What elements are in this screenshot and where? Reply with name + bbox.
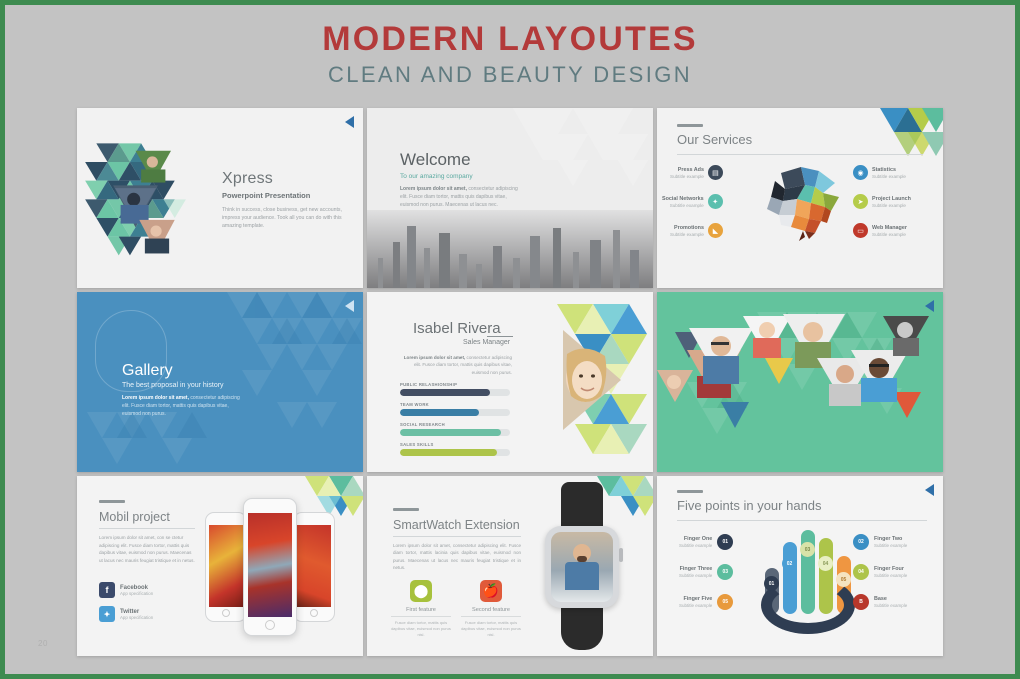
smartwatch-mockup: [539, 482, 625, 650]
service-subtitle: Subtitle example: [662, 203, 704, 208]
play-back-triangle-icon[interactable]: [345, 300, 354, 312]
page-number: 20: [38, 639, 48, 648]
slide-title: Five points in your hands: [677, 498, 927, 513]
social-item-facebook[interactable]: f Facebook App specification: [99, 582, 153, 598]
feature-name: Second feature: [461, 607, 521, 617]
slide-body: Lorem ipsum dolor sit amet, consectetur …: [400, 186, 525, 209]
point-badge: 05: [717, 594, 733, 610]
title-rule: [99, 500, 125, 503]
slide-gallery[interactable]: Gallery The best proposal in your histor…: [77, 292, 363, 472]
finger-badge-01: 01: [764, 576, 779, 591]
slide-title: Xpress: [222, 170, 342, 188]
skill-fill: [400, 449, 497, 456]
skill-label: SALES SKILLS: [400, 442, 510, 447]
point-name: Finger Four: [874, 566, 907, 572]
newspaper-icon[interactable]: ▤: [708, 165, 723, 180]
play-back-triangle-icon[interactable]: [345, 116, 354, 128]
point-subtitle: Subtitle example: [679, 573, 712, 578]
service-item-social-networks[interactable]: Social Networks Subtitle example ✦: [662, 194, 723, 209]
point-badge: 01: [717, 534, 733, 550]
slide-xpress-text: Xpress Powerpoint Presentation Think in …: [222, 170, 342, 230]
slide-mobil-project[interactable]: Mobil project Lorem ipsum dolor sit amet…: [77, 476, 363, 656]
slide-isabel-rivera[interactable]: Isabel Rivera Sales Manager Lorem ipsum …: [367, 292, 653, 472]
phone-mockup-center: [243, 498, 297, 636]
page-subtitle: CLEAN AND BEAUTY DESIGN: [5, 62, 1015, 88]
point-subtitle: Subtitle example: [874, 573, 907, 578]
finger-badge-03: 03: [800, 542, 815, 557]
point-badge: B: [853, 594, 869, 610]
feature-item-first[interactable]: ⬤ First feature Fusce diam tortor, matti…: [391, 580, 451, 638]
skill-row: PUBLIC RELASHIONSHIP: [400, 382, 510, 396]
header-divider: [393, 536, 521, 537]
service-name: Statistics: [872, 167, 906, 173]
skill-fill: [400, 409, 479, 416]
point-item-finger-five[interactable]: Finger Five Subtitle example 05: [679, 594, 733, 610]
skill-track: [400, 429, 510, 436]
skill-track: [400, 409, 510, 416]
gauge-icon[interactable]: ◉: [853, 165, 868, 180]
social-subtitle: App specification: [120, 615, 153, 620]
megaphone-icon[interactable]: ◣: [708, 223, 723, 238]
social-subtitle: App specification: [120, 591, 153, 596]
service-name: Social Networks: [662, 196, 704, 202]
slide-body-bold: Lorem ipsum dolor sit amet,: [404, 355, 466, 360]
feature-name: First feature: [391, 607, 451, 617]
skill-label: TEAM WORK: [400, 402, 510, 407]
cityscape-photo: [367, 210, 653, 288]
slide-smartwatch-extension[interactable]: SmartWatch Extension Lorem ipsum dolor s…: [367, 476, 653, 656]
triangle-watermark: [503, 108, 653, 188]
page-header: MODERN LAYOUTES CLEAN AND BEAUTY DESIGN: [5, 5, 1015, 88]
slide-subtitle: Sales Manager: [463, 339, 510, 346]
laptop-icon[interactable]: ▭: [853, 223, 868, 238]
slide-our-services[interactable]: Our Services Press Ads: [657, 108, 943, 288]
service-subtitle: Subtitle example: [872, 174, 906, 179]
title-rule: [677, 490, 703, 493]
point-item-finger-two[interactable]: 02 Finger Two Subtitle example: [853, 534, 907, 550]
service-subtitle: Subtitle example: [872, 232, 907, 237]
android-icon[interactable]: ⬤: [410, 580, 432, 602]
point-item-finger-four[interactable]: 04 Finger Four Subtitle example: [853, 564, 907, 580]
apple-icon[interactable]: 🍎: [480, 580, 502, 602]
skill-track: [400, 449, 510, 456]
point-badge: 02: [853, 534, 869, 550]
slide-header: Our Services: [677, 124, 923, 155]
slide-body: Lorem ipsum dolor sit amet, consectetur …: [393, 542, 521, 572]
point-badge: 04: [853, 564, 869, 580]
twitter-bird-icon[interactable]: ✦: [708, 194, 723, 209]
title-rule: [677, 124, 703, 127]
service-name: Project Launch: [872, 196, 911, 202]
feature-desc: Fusce diam tortor, mattis quis dapibus v…: [391, 620, 451, 638]
slide-body: Lorem ipsum dolor sit amet, consectetur …: [122, 394, 242, 418]
phone-mockup-right: [293, 512, 335, 622]
triangle-mosaic: [77, 134, 213, 274]
point-item-finger-one[interactable]: Finger One Subtitle example 01: [679, 534, 733, 550]
skill-row: SOCIAL RESEARCH: [400, 422, 510, 436]
point-item-base[interactable]: B Base Subtitle example: [853, 594, 907, 610]
header-divider: [677, 520, 927, 521]
play-back-triangle-icon[interactable]: [925, 300, 934, 312]
slide-xpress[interactable]: Xpress Powerpoint Presentation Think in …: [77, 108, 363, 288]
service-name: Web Manager: [872, 225, 907, 231]
skill-label: PUBLIC RELASHIONSHIP: [400, 382, 510, 387]
slide-title: SmartWatch Extension: [393, 518, 520, 532]
point-subtitle: Subtitle example: [874, 543, 907, 548]
slide-body: Lorem ipsum dolor sit amet, con se ctetu…: [99, 534, 195, 564]
slide-title: Our Services: [677, 132, 923, 147]
slide-title: Mobil project: [99, 510, 170, 524]
slide-subtitle: To our amazing company: [400, 173, 525, 180]
skill-label: SOCIAL RESEARCH: [400, 422, 510, 427]
point-name: Finger Two: [874, 536, 907, 542]
finger-badge-02: 02: [782, 556, 797, 571]
point-subtitle: Subtitle example: [874, 603, 907, 608]
header-divider: [677, 154, 923, 155]
slide-title: Welcome: [400, 150, 525, 170]
service-name: Promotions: [670, 225, 704, 231]
skill-fill: [400, 389, 490, 396]
feature-item-second[interactable]: 🍎 Second feature Fusce diam tortor, matt…: [461, 580, 521, 638]
feature-desc: Fusce diam tortor, mattis quis dapibus v…: [461, 620, 521, 638]
skill-row: TEAM WORK: [400, 402, 510, 416]
slide-subtitle: Powerpoint Presentation: [222, 191, 342, 200]
point-name: Base: [874, 596, 907, 602]
facebook-icon[interactable]: f: [99, 582, 115, 598]
slide-title: Isabel Rivera: [413, 320, 501, 337]
social-item-twitter[interactable]: ✦ Twitter App specification: [99, 606, 153, 622]
slide-subtitle: The best proposal in your history: [122, 382, 224, 389]
point-subtitle: Subtitle example: [679, 543, 712, 548]
slide-grid: Xpress Powerpoint Presentation Think in …: [77, 108, 953, 655]
slide-welcome-text: Welcome To our amazing company Lorem ips…: [400, 150, 525, 209]
point-item-finger-three[interactable]: Finger Three Subtitle example 03: [679, 564, 733, 580]
service-item-statistics[interactable]: ◉ Statistics Subtitle example: [853, 165, 906, 180]
slide-welcome[interactable]: Welcome To our amazing company Lorem ips…: [367, 108, 653, 288]
service-item-web-manager[interactable]: ▭ Web Manager Subtitle example: [853, 223, 907, 238]
point-name: Finger Five: [679, 596, 712, 602]
point-subtitle: Subtitle example: [679, 603, 712, 608]
slide-title: Gallery: [122, 362, 173, 380]
skill-bars: PUBLIC RELASHIONSHIP TEAM WORK SOCIAL RE…: [400, 382, 510, 462]
service-item-press-ads[interactable]: Press Ads Subtitle example ▤: [670, 165, 723, 180]
skill-fill: [400, 429, 501, 436]
slide-body-bold: Lorem ipsum dolor sit amet,: [400, 186, 467, 192]
title-rule: [393, 508, 419, 511]
twitter-icon[interactable]: ✦: [99, 606, 115, 622]
phone-mockup-left: [205, 512, 247, 622]
slide-body-bold: Lorem ipsum dolor sit amet,: [122, 395, 189, 401]
service-subtitle: Subtitle example: [670, 174, 704, 179]
slide-header: Five points in your hands: [677, 490, 927, 521]
finger-badge-05: 05: [836, 572, 851, 587]
slide-team-collage[interactable]: [657, 292, 943, 472]
point-badge: 03: [717, 564, 733, 580]
skill-track: [400, 389, 510, 396]
paper-plane-icon[interactable]: ➤: [853, 194, 868, 209]
service-name: Press Ads: [670, 167, 704, 173]
service-item-project-launch[interactable]: ➤ Project Launch Subtitle example: [853, 194, 911, 209]
slide-five-points[interactable]: Five points in your hands 01 02 03 04 05…: [657, 476, 943, 656]
slide-body: Lorem ipsum dolor sit amet, consectetur …: [402, 354, 512, 376]
service-subtitle: Subtitle example: [872, 203, 911, 208]
header-divider: [99, 528, 195, 529]
point-name: Finger One: [679, 536, 712, 542]
service-subtitle: Subtitle example: [670, 232, 704, 237]
service-item-promotions[interactable]: Promotions Subtitle example ◣: [670, 223, 723, 238]
slide-body: Think in success, close business, get ne…: [222, 206, 342, 230]
triangle-decoration: [523, 292, 653, 472]
page-title: MODERN LAYOUTES: [5, 22, 1015, 58]
triangle-pattern: [657, 292, 943, 472]
finger-badge-04: 04: [818, 556, 833, 571]
skill-row: SALES SKILLS: [400, 442, 510, 456]
point-name: Finger Three: [679, 566, 712, 572]
brain-infographic: [753, 163, 848, 241]
title-rule: [487, 336, 513, 337]
